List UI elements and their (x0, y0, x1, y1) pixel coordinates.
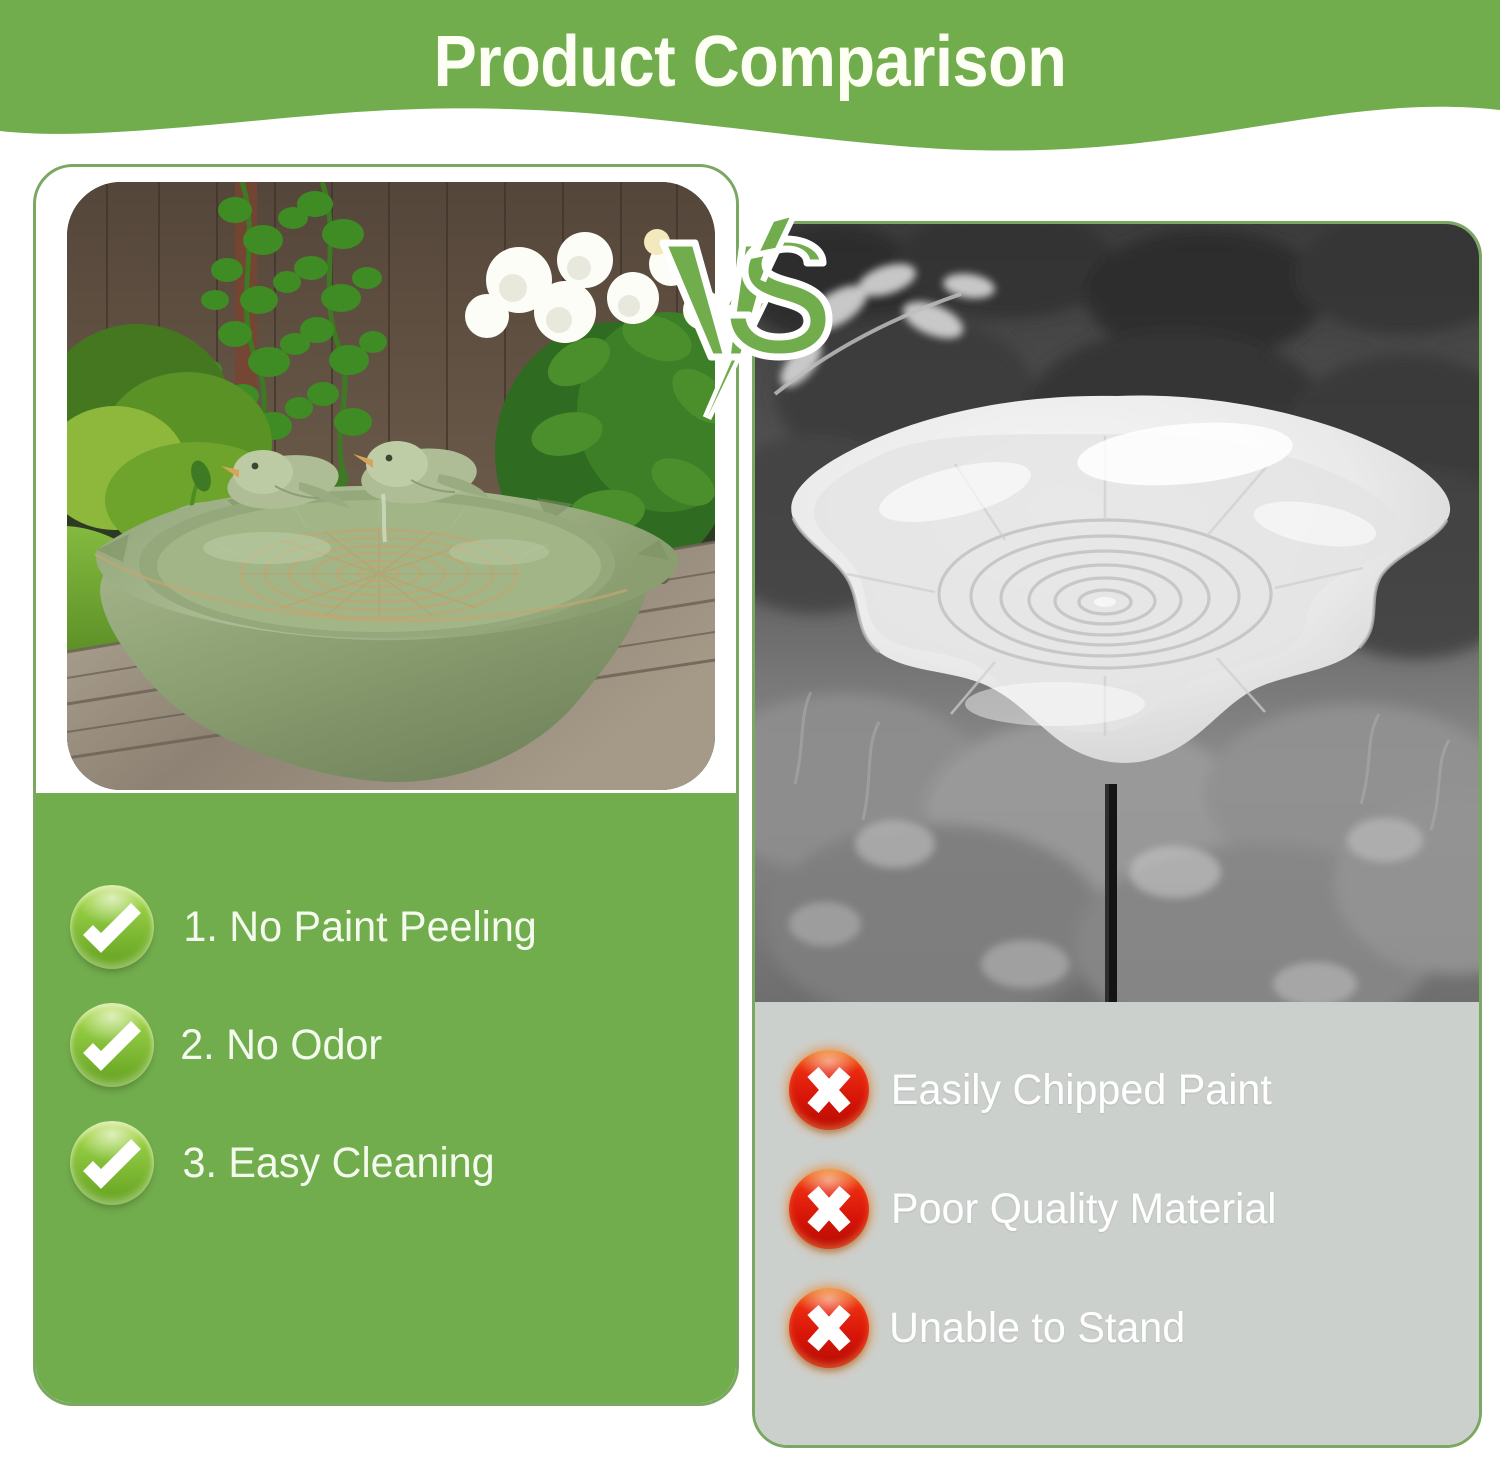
good-product-photo (67, 182, 715, 790)
good-feature-label: 3. Easy Cleaning (183, 1139, 495, 1188)
bad-drawback-label: Poor Quality Material (891, 1185, 1276, 1234)
bad-product-photo (755, 224, 1479, 1002)
good-feature-label: 1. No Paint Peeling (183, 903, 536, 952)
page-title: Product Comparison (75, 26, 1425, 98)
header-banner: Product Comparison (0, 0, 1500, 155)
left-product-panel: 1. No Paint Peeling 2. No Odor (33, 164, 739, 1406)
vs-badge (655, 185, 845, 420)
check-circle-icon (70, 1003, 154, 1087)
bad-drawback-item: Poor Quality Material (755, 1169, 1479, 1249)
x-circle-icon (789, 1169, 869, 1249)
x-circle-icon (789, 1288, 869, 1368)
good-feature-label: 2. No Odor (180, 1021, 382, 1070)
good-feature-item: 3. Easy Cleaning (36, 1121, 739, 1205)
bad-drawback-label: Unable to Stand (889, 1304, 1185, 1353)
x-circle-icon (789, 1050, 869, 1130)
bad-drawback-item: Easily Chipped Paint (755, 1050, 1479, 1130)
bad-drawback-label: Easily Chipped Paint (891, 1066, 1272, 1115)
bad-drawbacks-panel: Easily Chipped Paint Poor Quality Materi… (755, 1002, 1479, 1445)
right-product-panel: Easily Chipped Paint Poor Quality Materi… (752, 221, 1482, 1448)
good-features-list: 1. No Paint Peeling 2. No Odor (36, 885, 739, 1205)
good-features-panel: 1. No Paint Peeling 2. No Odor (36, 793, 739, 1406)
check-circle-icon (70, 1121, 154, 1205)
good-feature-item: 1. No Paint Peeling (36, 885, 739, 969)
product-comparison-infographic: Product Comparison (0, 0, 1500, 1463)
bad-drawback-item: Unable to Stand (755, 1288, 1479, 1368)
check-circle-icon (70, 885, 154, 969)
bad-drawbacks-list: Easily Chipped Paint Poor Quality Materi… (755, 1050, 1479, 1368)
good-feature-item: 2. No Odor (36, 1003, 739, 1087)
